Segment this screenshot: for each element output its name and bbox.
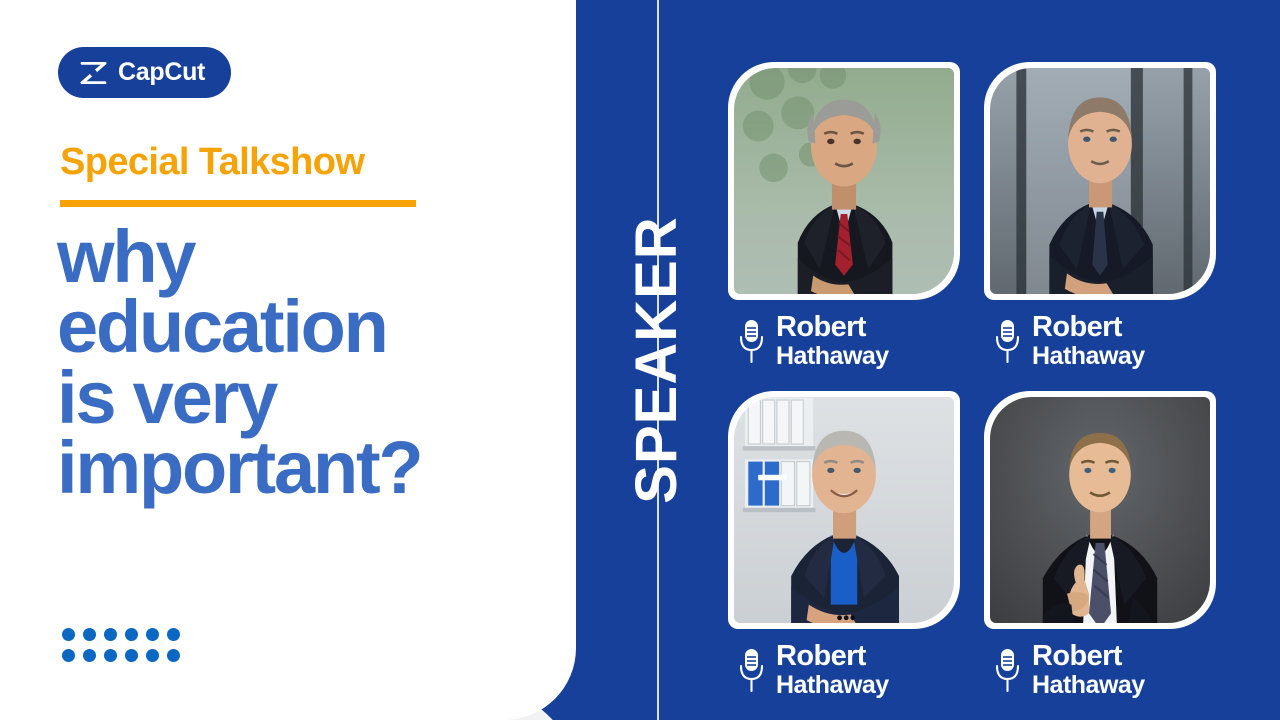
- speaker-grid: Robert Hathaway: [728, 62, 1216, 682]
- page-title: why education is very important?: [57, 222, 557, 503]
- speaker-last-name: Hathaway: [776, 673, 889, 698]
- dot: [167, 649, 180, 662]
- speaker-last-name: Hathaway: [776, 344, 889, 369]
- speaker-card[interactable]: Robert Hathaway: [728, 391, 960, 698]
- decorative-dot-grid: [62, 628, 180, 662]
- speaker-photo-frame: [984, 62, 1216, 300]
- dot: [83, 649, 96, 662]
- dot: [83, 628, 96, 641]
- microphone-icon: [994, 647, 1021, 693]
- dot: [104, 649, 117, 662]
- speaker-name-row: Robert Hathaway: [984, 313, 1216, 369]
- speaker-first-name: Robert: [776, 313, 889, 342]
- dot: [125, 649, 138, 662]
- dot: [167, 628, 180, 641]
- speaker-name-row: Robert Hathaway: [728, 642, 960, 698]
- dot: [125, 628, 138, 641]
- dot: [146, 628, 159, 641]
- headline-line-4: important?: [57, 433, 557, 503]
- speaker-photo: [990, 397, 1210, 623]
- dot: [62, 628, 75, 641]
- speaker-name: Robert Hathaway: [1032, 642, 1145, 698]
- eyebrow-title: Special Talkshow: [60, 143, 364, 183]
- poster-canvas: CapCut Special Talkshow why education is…: [0, 0, 1280, 720]
- speaker-name-row: Robert Hathaway: [984, 642, 1216, 698]
- speaker-last-name: Hathaway: [1032, 344, 1145, 369]
- speaker-name: Robert Hathaway: [776, 313, 889, 369]
- speaker-name: Robert Hathaway: [1032, 313, 1145, 369]
- speaker-card[interactable]: Robert Hathaway: [984, 62, 1216, 369]
- dot: [104, 628, 117, 641]
- headline-line-2: education: [57, 292, 557, 362]
- speaker-card[interactable]: Robert Hathaway: [984, 391, 1216, 698]
- speaker-photo: [734, 68, 954, 294]
- speaker-last-name: Hathaway: [1032, 673, 1145, 698]
- microphone-icon: [994, 318, 1021, 364]
- speaker-photo: [990, 68, 1210, 294]
- dot: [146, 649, 159, 662]
- eyebrow-underline: [60, 200, 416, 207]
- headline-line-3: is very: [57, 363, 557, 433]
- speaker-photo: [734, 397, 954, 623]
- capcut-logo-text: CapCut: [118, 60, 205, 85]
- left-content-panel: CapCut Special Talkshow why education is…: [0, 0, 576, 720]
- speaker-first-name: Robert: [1032, 313, 1145, 342]
- microphone-icon: [738, 318, 765, 364]
- microphone-icon: [738, 647, 765, 693]
- speaker-photo-frame: [984, 391, 1216, 629]
- capcut-logo-badge[interactable]: CapCut: [58, 47, 231, 98]
- headline-line-1: why: [57, 222, 557, 292]
- dot: [62, 649, 75, 662]
- speaker-first-name: Robert: [1032, 642, 1145, 671]
- speaker-card[interactable]: Robert Hathaway: [728, 62, 960, 369]
- speaker-photo-frame: [728, 62, 960, 300]
- speaker-name-row: Robert Hathaway: [728, 313, 960, 369]
- capcut-bowtie-icon: [80, 62, 107, 84]
- speaker-first-name: Robert: [776, 642, 889, 671]
- speaker-photo-frame: [728, 391, 960, 629]
- speaker-name: Robert Hathaway: [776, 642, 889, 698]
- speaker-section-label: SPEAKER: [628, 216, 686, 503]
